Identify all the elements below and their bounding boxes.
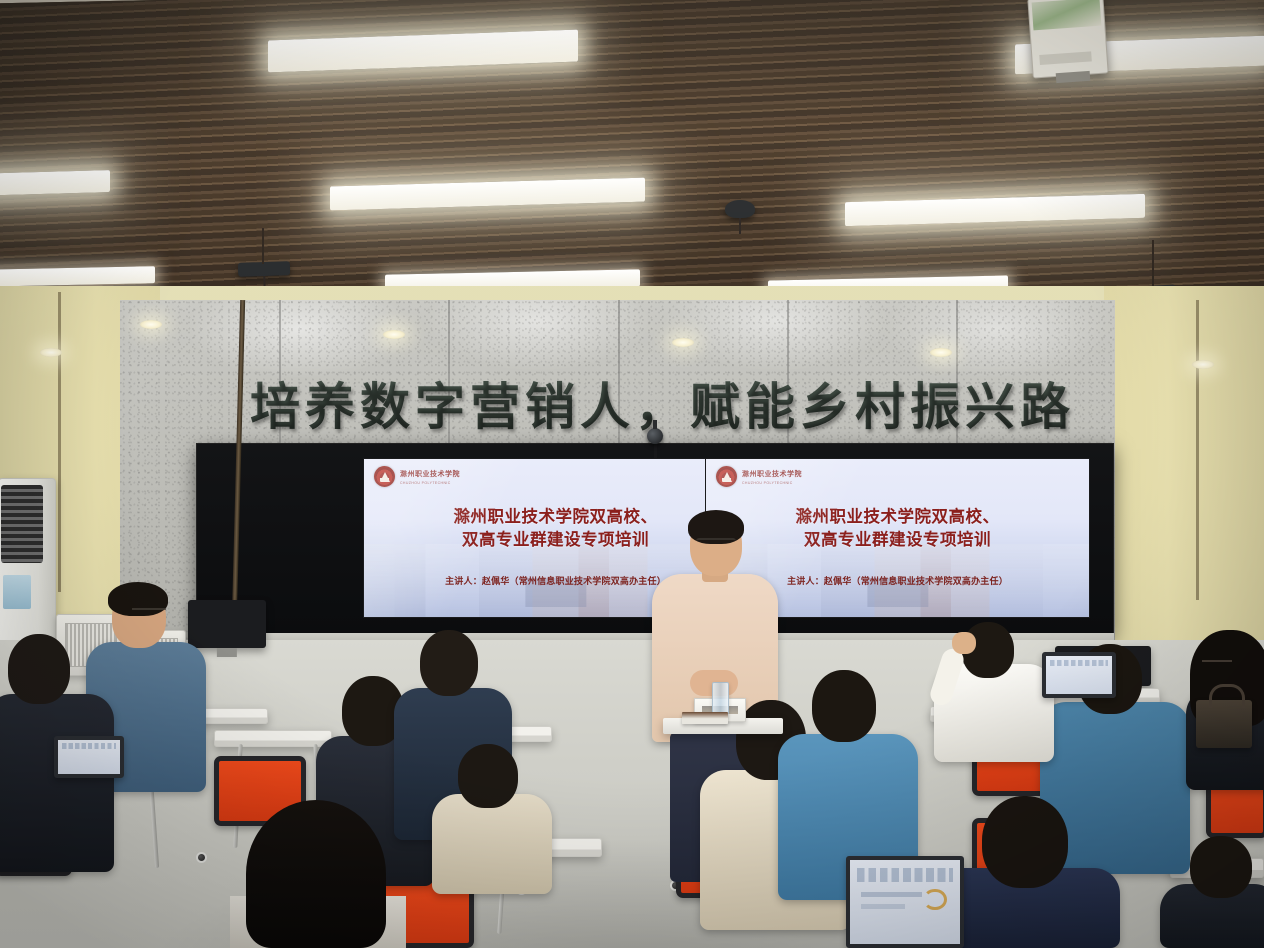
attendee-shirt-2 — [0, 694, 114, 872]
laptop-accent-graphic — [923, 889, 947, 911]
water-glass — [712, 682, 729, 716]
laptop-screen-2[interactable] — [1042, 652, 1116, 698]
downlight-1 — [140, 320, 162, 329]
ceiling-light-3 — [0, 170, 110, 196]
room-camera-icon — [647, 428, 663, 444]
slogan-char-14: 路 — [1020, 367, 1070, 439]
ceiling-speaker-left — [238, 261, 290, 277]
ac-display-panel — [3, 575, 31, 609]
desk-caster-1 — [196, 852, 207, 863]
handbag-right — [1196, 700, 1252, 748]
laptop-left[interactable] — [54, 736, 124, 778]
projector-mount-device — [1027, 0, 1108, 79]
slogan-char-12: 振 — [910, 367, 960, 439]
downlight-4 — [930, 348, 952, 357]
slogan-char-7: ， — [635, 367, 685, 439]
slogan-char-5: 销 — [525, 367, 575, 439]
attendee-head-10 — [1190, 836, 1252, 898]
laptop-screen-3[interactable] — [54, 736, 124, 778]
attendee-long-hair — [246, 800, 386, 948]
ceiling-speaker-center — [725, 200, 755, 218]
slogan-char-2: 数 — [360, 367, 410, 439]
laptop-toolbar-2 — [1050, 660, 1108, 666]
slogan-char-6: 人 — [580, 367, 630, 439]
attendee-glasses-icon — [132, 608, 166, 616]
laptop-bottom-right[interactable] — [846, 856, 964, 948]
slogan-char-10: 乡 — [800, 367, 850, 439]
lecture-room-photo: 培 养 数 字 营 销 人 ， 赋 能 乡 村 振 兴 路 滁州职业技术学院 C… — [0, 0, 1264, 948]
wall-slogan: 培 养 数 字 营 销 人 ， 赋 能 乡 村 振 兴 路 — [250, 372, 1070, 434]
slogan-char-9: 能 — [745, 367, 795, 439]
device-label — [1040, 52, 1092, 65]
attendee-head-11 — [458, 744, 518, 808]
attendee-head-6 — [812, 670, 876, 742]
wall-beige-right — [1104, 286, 1264, 686]
desk-papers — [682, 712, 728, 724]
slogan-char-11: 村 — [855, 367, 905, 439]
downlight-6 — [1192, 360, 1214, 369]
slogan-char-0: 培 — [250, 367, 300, 439]
wall-seam-left — [58, 292, 61, 592]
attendee-glasses-icon-right — [1202, 660, 1232, 667]
slogan-char-3: 字 — [415, 367, 465, 439]
attendee-shirt-11 — [432, 794, 552, 894]
laptop-text-line-1 — [861, 892, 922, 897]
speaker-hanger-rod — [262, 228, 264, 264]
device-circuit-board — [1032, 0, 1102, 31]
attendee-bottom-far-right — [1160, 836, 1264, 948]
downlight-2 — [383, 330, 405, 339]
laptop-toolbar — [857, 868, 954, 881]
attendee-bottom-left — [432, 744, 552, 894]
attendee-right-white — [930, 612, 1056, 762]
laptop-screen[interactable] — [846, 856, 964, 948]
speaker-hanger-rod-right — [1152, 240, 1154, 288]
attendee-front-woman — [226, 800, 406, 948]
slogan-char-4: 营 — [470, 367, 520, 439]
laptop-text-line-2 — [861, 904, 905, 909]
laptop-right-back[interactable] — [1042, 652, 1116, 698]
attendee-hand — [952, 632, 976, 654]
slogan-char-1: 养 — [305, 367, 355, 439]
downlight-3 — [672, 338, 694, 347]
presenter-glasses-icon — [696, 538, 736, 546]
laptop-toolbar-3 — [62, 743, 117, 748]
wall-seam-right — [1196, 300, 1199, 600]
slogan-char-13: 兴 — [965, 367, 1015, 439]
downlight-5 — [40, 348, 62, 357]
attendee-head-2 — [8, 634, 70, 704]
ac-vent — [1, 485, 43, 563]
attendee-head-4 — [420, 630, 478, 696]
slogan-char-8: 赋 — [690, 367, 740, 439]
attendee-head-9 — [982, 796, 1068, 888]
